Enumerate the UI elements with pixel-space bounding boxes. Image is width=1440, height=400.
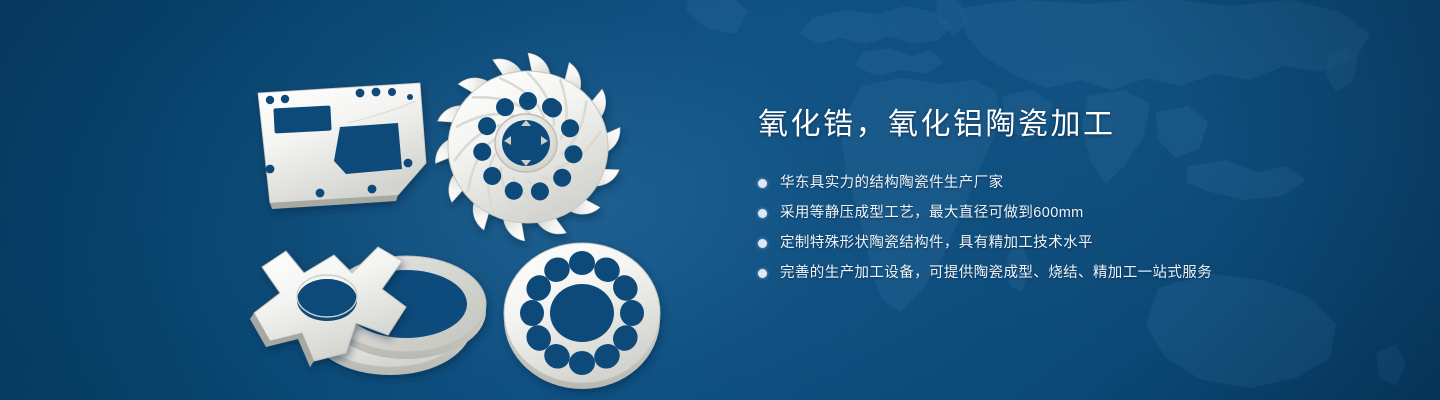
product-photo-cluster: [230, 35, 730, 385]
bullet-text: 华东具实力的结构陶瓷件生产厂家: [780, 172, 1004, 194]
bullet-text: 采用等静压成型工艺，最大直径可做到600mm: [780, 202, 1084, 224]
bullet-text: 完善的生产加工设备，可提供陶瓷成型、烧结、精加工一站式服务: [780, 262, 1212, 284]
bullet-dot-icon: [758, 209, 767, 218]
list-item: 定制特殊形状陶瓷结构件，具有精加工技术水平: [758, 231, 1378, 255]
hero-banner: 氧化锆，氧化铝陶瓷加工 华东具实力的结构陶瓷件生产厂家 采用等静压成型工艺，最大…: [0, 0, 1440, 400]
bullet-dot-icon: [758, 179, 767, 188]
ceramic-impeller-wheel: [432, 52, 625, 242]
list-item: 华东具实力的结构陶瓷件生产厂家: [758, 171, 1378, 195]
banner-headline: 氧化锆，氧化铝陶瓷加工: [758, 105, 1378, 145]
banner-text-block: 氧化锆，氧化铝陶瓷加工 华东具实力的结构陶瓷件生产厂家 采用等静压成型工艺，最大…: [758, 105, 1378, 291]
bullet-dot-icon: [758, 239, 767, 248]
bullet-dot-icon: [758, 269, 767, 278]
ceramic-flat-plate: [258, 83, 426, 209]
ceramic-perforated-disc: [504, 243, 660, 389]
list-item: 完善的生产加工设备，可提供陶瓷成型、烧结、精加工一站式服务: [758, 261, 1378, 285]
list-item: 采用等静压成型工艺，最大直径可做到600mm: [758, 201, 1378, 225]
feature-bullet-list: 华东具实力的结构陶瓷件生产厂家 采用等静压成型工艺，最大直径可做到600mm 定…: [758, 171, 1378, 285]
bullet-text: 定制特殊形状陶瓷结构件，具有精加工技术水平: [780, 232, 1093, 254]
